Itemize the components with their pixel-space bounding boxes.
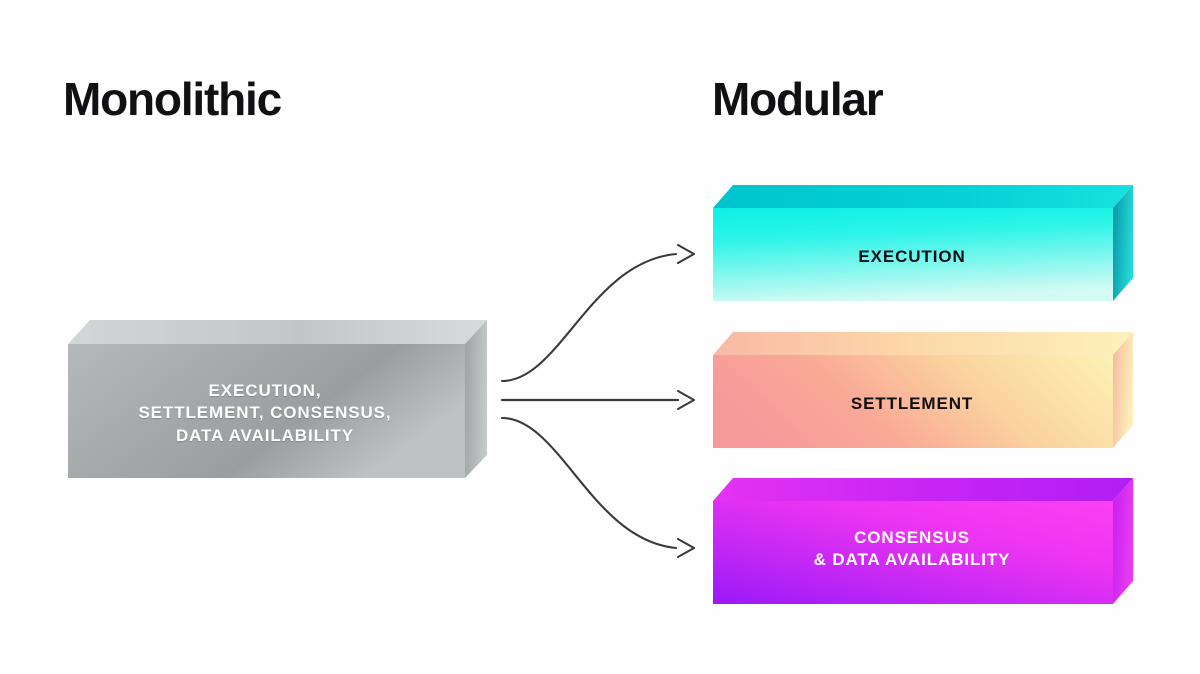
consensus-top-face [713, 478, 1133, 501]
consensus-front-face [713, 501, 1113, 604]
consensus-box [0, 0, 1200, 674]
